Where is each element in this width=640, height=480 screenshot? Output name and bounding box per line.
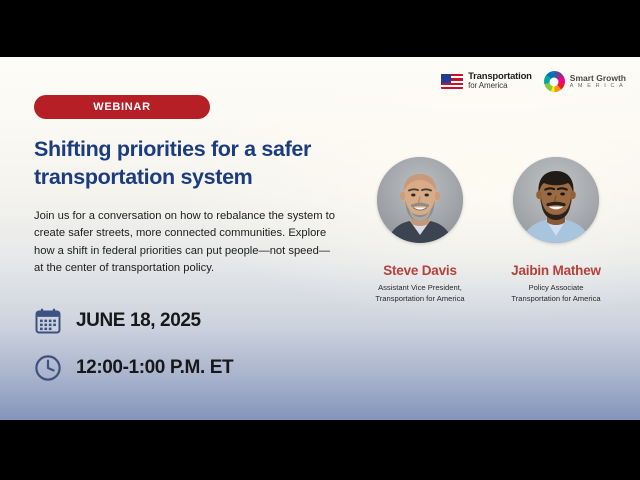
smart-growth-circle-icon bbox=[544, 71, 565, 92]
speaker-role-line2: Transportation for America bbox=[352, 294, 488, 305]
transportation-for-america-logo: Transportation for America bbox=[441, 72, 532, 90]
speaker-card: Steve Davis Assistant Vice President, Tr… bbox=[352, 157, 488, 305]
sga-wordmark: Smart Growth A M E R I C A bbox=[570, 74, 626, 89]
event-schedule: JUNE 18, 2025 12:00-1:00 P.M. ET bbox=[34, 303, 352, 386]
logo-group: Transportation for America Smart Growth … bbox=[441, 71, 626, 92]
headshot-jaibin-mathew bbox=[513, 157, 599, 243]
webinar-badge: WEBINAR bbox=[34, 95, 210, 119]
slide-left-column: WEBINAR Shifting priorities for a safer … bbox=[34, 95, 352, 386]
speaker-card: Jaibin Mathew Policy Associate Transport… bbox=[488, 157, 624, 305]
video-frame: Transportation for America Smart Growth … bbox=[0, 0, 640, 480]
sga-wordmark-line2: A M E R I C A bbox=[570, 83, 626, 89]
speaker-role-line1: Assistant Vice President, bbox=[352, 283, 488, 294]
speaker-name: Steve Davis bbox=[352, 263, 488, 278]
speaker-role-line1: Policy Associate bbox=[488, 283, 624, 294]
us-flag-icon bbox=[441, 74, 463, 89]
smart-growth-america-logo: Smart Growth A M E R I C A bbox=[544, 71, 626, 92]
clock-icon bbox=[34, 354, 62, 382]
headshot-steve-davis bbox=[377, 157, 463, 243]
t4a-wordmark: Transportation for America bbox=[468, 72, 532, 90]
speaker-group: Steve Davis Assistant Vice President, Tr… bbox=[352, 157, 624, 305]
calendar-icon bbox=[34, 307, 62, 335]
sga-wordmark-line1: Smart Growth bbox=[570, 74, 626, 83]
webinar-promo-slide: Transportation for America Smart Growth … bbox=[0, 57, 640, 420]
event-date-row: JUNE 18, 2025 bbox=[34, 303, 352, 339]
speaker-name: Jaibin Mathew bbox=[488, 263, 624, 278]
speaker-role: Policy Associate Transportation for Amer… bbox=[488, 283, 624, 305]
event-time-row: 12:00-1:00 P.M. ET bbox=[34, 350, 352, 386]
speaker-role-line2: Transportation for America bbox=[488, 294, 624, 305]
page-title: Shifting priorities for a safer transpor… bbox=[34, 136, 324, 191]
speaker-role: Assistant Vice President, Transportation… bbox=[352, 283, 488, 305]
description-text: Join us for a conversation on how to reb… bbox=[34, 208, 338, 277]
event-date: JUNE 18, 2025 bbox=[76, 310, 201, 332]
letterbox-top bbox=[0, 0, 640, 57]
event-time: 12:00-1:00 P.M. ET bbox=[76, 357, 233, 379]
letterbox-bottom bbox=[0, 420, 640, 480]
t4a-wordmark-line2: for America bbox=[468, 82, 532, 90]
